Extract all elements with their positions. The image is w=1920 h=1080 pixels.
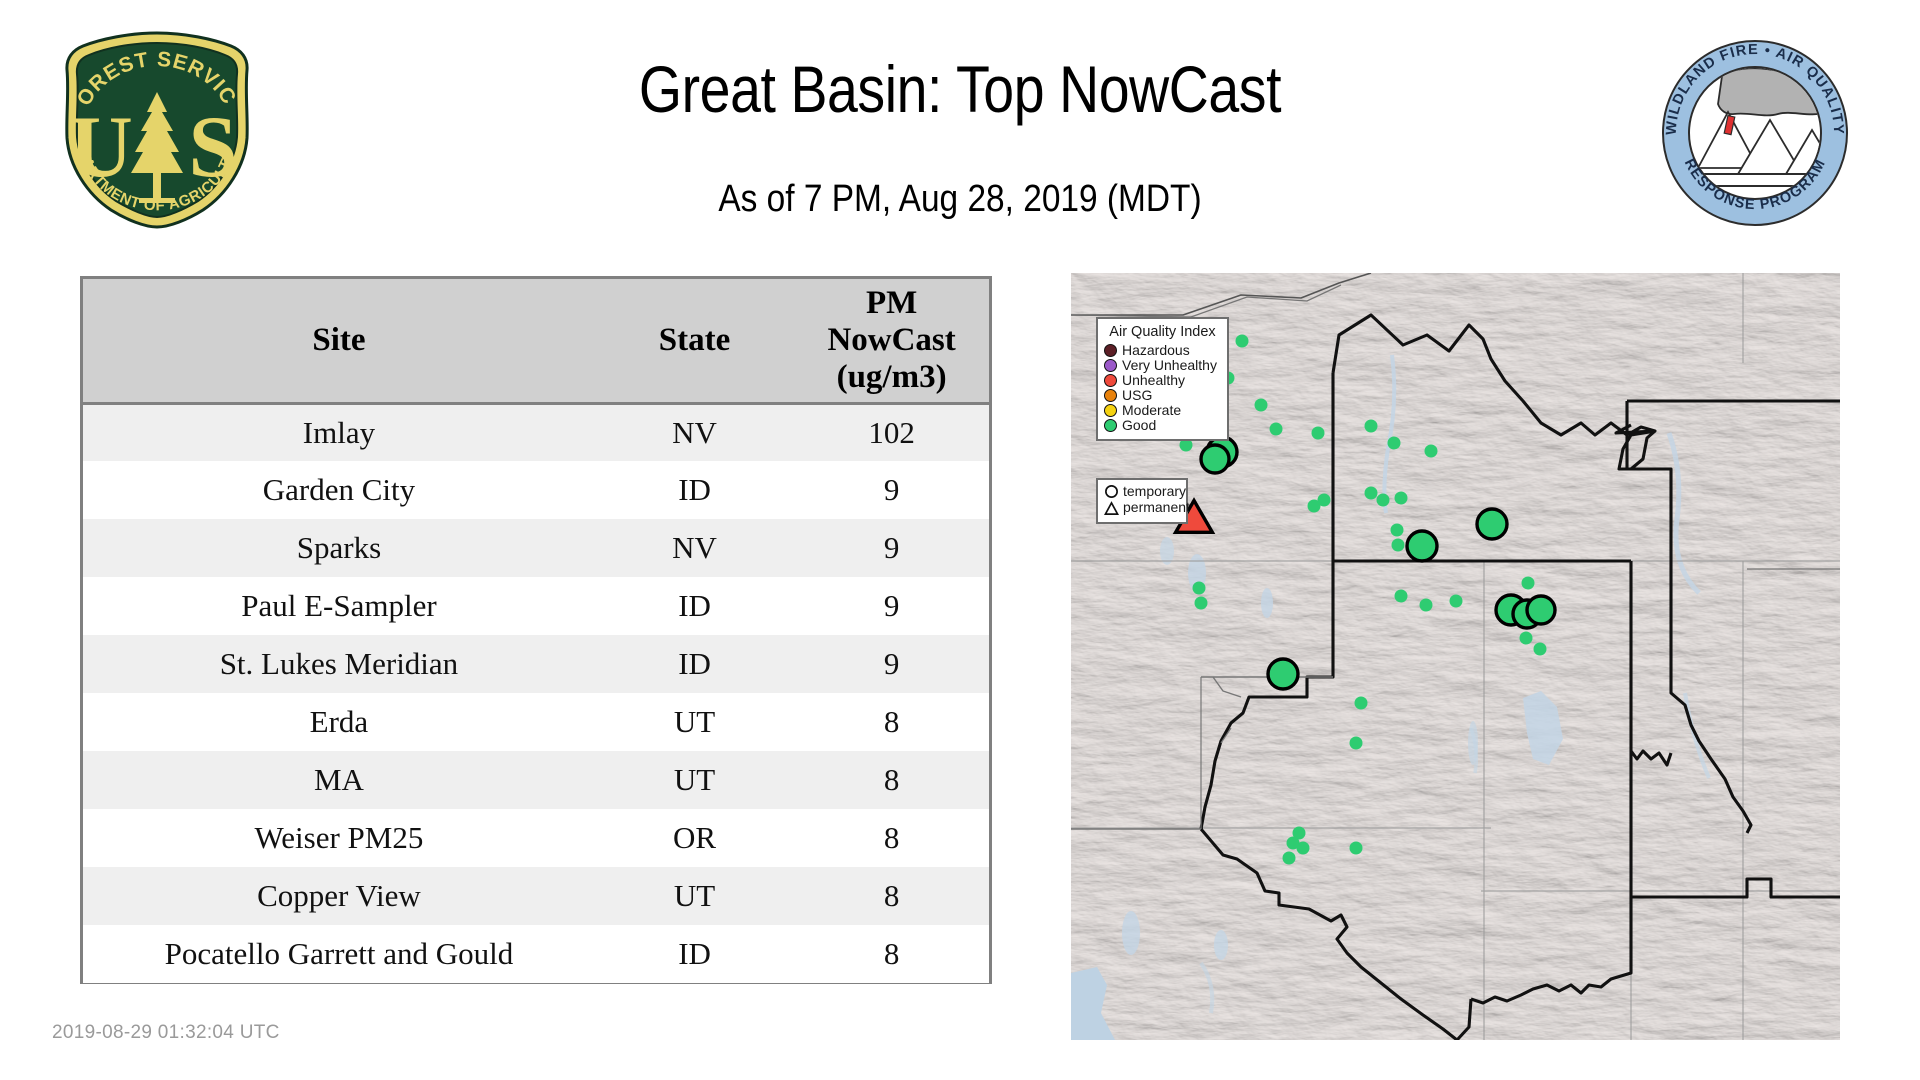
- legend-row-hazardous: Hazardous: [1104, 343, 1221, 358]
- table-row: St. Lukes MeridianID9: [83, 635, 989, 693]
- site-cell: Weiser PM25: [83, 809, 595, 867]
- pm-nowcast-cell: 8: [794, 809, 989, 867]
- state-cell: UT: [595, 751, 794, 809]
- legend-row-very-unhealthy: Very Unhealthy: [1104, 358, 1221, 373]
- legend-swatch-icon: [1104, 374, 1117, 387]
- table-row: ErdaUT8: [83, 693, 989, 751]
- small-site-marker: [1270, 423, 1283, 436]
- air-quality-index-legend: Air Quality Index HazardousVery Unhealth…: [1096, 317, 1229, 441]
- site-cell: Garden City: [83, 461, 595, 519]
- legend-swatch-icon: [1104, 404, 1117, 417]
- pm-nowcast-cell: 9: [794, 461, 989, 519]
- usda-forest-service-logo: FOREST SERVICE U S DEPARTMENT OF AGRICUL…: [55, 30, 260, 230]
- column-header-state: State: [595, 279, 794, 403]
- small-site-marker: [1425, 445, 1438, 458]
- table-row: Pocatello Garrett and GouldID8: [83, 925, 989, 983]
- small-site-marker: [1355, 697, 1368, 710]
- small-site-marker: [1420, 599, 1433, 612]
- page-subtitle: As of 7 PM, Aug 28, 2019 (MDT): [353, 178, 1567, 221]
- site-cell: MA: [83, 751, 595, 809]
- legend-label-temporary: temporary: [1123, 484, 1186, 499]
- pm-nowcast-cell: 8: [794, 693, 989, 751]
- state-cell: UT: [595, 693, 794, 751]
- small-site-marker: [1283, 852, 1296, 865]
- table-row: Copper ViewUT8: [83, 867, 989, 925]
- table-row: ImlayNV102: [83, 403, 989, 461]
- legend-label: Good: [1122, 418, 1156, 433]
- small-site-marker: [1236, 335, 1249, 348]
- small-site-marker: [1520, 632, 1533, 645]
- legend-row-unhealthy: Unhealthy: [1104, 373, 1221, 388]
- small-site-marker: [1193, 582, 1206, 595]
- small-site-marker: [1365, 487, 1378, 500]
- table-body: ImlayNV102Garden CityID9SparksNV9Paul E-…: [83, 403, 989, 983]
- generated-timestamp: 2019-08-29 01:32:04 UTC: [52, 1022, 280, 1044]
- legend-row-usg: USG: [1104, 388, 1221, 403]
- state-cell: ID: [595, 577, 794, 635]
- column-header-pm-line1: PM: [798, 285, 985, 322]
- permanent-triangle-icon: [1104, 501, 1119, 516]
- small-site-marker: [1450, 595, 1463, 608]
- table-row: Weiser PM25OR8: [83, 809, 989, 867]
- table-row: Paul E-SamplerID9: [83, 577, 989, 635]
- legend-label: USG: [1122, 388, 1152, 403]
- state-cell: ID: [595, 461, 794, 519]
- small-site-marker: [1350, 842, 1363, 855]
- pm-nowcast-cell: 9: [794, 635, 989, 693]
- legend-label-permanent: permanent: [1123, 500, 1190, 515]
- temporary-monitor-marker[interactable]: [1477, 509, 1507, 539]
- small-site-marker: [1308, 500, 1321, 513]
- small-site-marker: [1195, 597, 1208, 610]
- pm-nowcast-cell: 9: [794, 577, 989, 635]
- state-cell: NV: [595, 519, 794, 577]
- small-site-marker: [1365, 420, 1378, 433]
- legend-row-permanent: permanent: [1104, 500, 1181, 515]
- column-header-pm-line2: NowCast: [798, 322, 985, 359]
- legend-row-good: Good: [1104, 418, 1221, 433]
- column-header-site: Site: [83, 279, 595, 403]
- small-site-marker: [1395, 590, 1408, 603]
- site-cell: Erda: [83, 693, 595, 751]
- site-cell: Paul E-Sampler: [83, 577, 595, 635]
- pm-nowcast-cell: 8: [794, 925, 989, 983]
- state-cell: ID: [595, 925, 794, 983]
- small-site-marker: [1395, 492, 1408, 505]
- legend-label: Unhealthy: [1122, 373, 1185, 388]
- small-site-marker: [1388, 437, 1401, 450]
- forest-service-shield-icon: FOREST SERVICE U S DEPARTMENT OF AGRICUL…: [55, 30, 260, 230]
- temporary-monitor-marker[interactable]: [1268, 659, 1298, 689]
- legend-label: Moderate: [1122, 403, 1181, 418]
- small-site-marker: [1312, 427, 1325, 440]
- table-row: Garden CityID9: [83, 461, 989, 519]
- legend-row-temporary: temporary: [1104, 484, 1181, 499]
- pm-nowcast-cell: 8: [794, 751, 989, 809]
- small-site-marker: [1534, 643, 1547, 656]
- small-site-marker: [1391, 524, 1404, 537]
- state-cell: NV: [595, 403, 794, 461]
- air-quality-monitor-map[interactable]: Air Quality Index HazardousVery Unhealth…: [1071, 273, 1840, 1040]
- small-site-marker: [1255, 399, 1268, 412]
- legend-row-moderate: Moderate: [1104, 403, 1221, 418]
- small-site-marker: [1350, 737, 1363, 750]
- table-row: MAUT8: [83, 751, 989, 809]
- table-row: SparksNV9: [83, 519, 989, 577]
- state-cell: ID: [595, 635, 794, 693]
- column-header-pm-line3: (ug/m3): [798, 359, 985, 396]
- legend-swatch-icon: [1104, 344, 1117, 357]
- legend-title: Air Quality Index: [1104, 324, 1221, 340]
- small-site-marker: [1392, 539, 1405, 552]
- legend-swatch-icon: [1104, 419, 1117, 432]
- site-cell: Sparks: [83, 519, 595, 577]
- small-site-marker: [1522, 577, 1535, 590]
- wfaqrp-seal-icon: WILDLAND FIRE • AIR QUALITY RESPONSE PRO…: [1660, 38, 1850, 228]
- temporary-circle-icon: [1104, 484, 1119, 499]
- monitor-type-legend: temporary permanent: [1096, 478, 1188, 524]
- small-site-marker: [1297, 842, 1310, 855]
- site-cell: Copper View: [83, 867, 595, 925]
- state-cell: UT: [595, 867, 794, 925]
- legend-label: Very Unhealthy: [1122, 358, 1217, 373]
- legend-swatch-icon: [1104, 359, 1117, 372]
- state-cell: OR: [595, 809, 794, 867]
- temporary-monitor-marker[interactable]: [1407, 531, 1437, 561]
- site-cell: Pocatello Garrett and Gould: [83, 925, 595, 983]
- site-cell: St. Lukes Meridian: [83, 635, 595, 693]
- pm-nowcast-cell: 102: [794, 403, 989, 461]
- pm-nowcast-cell: 9: [794, 519, 989, 577]
- small-site-marker: [1377, 494, 1390, 507]
- column-header-pm-nowcast: PM NowCast (ug/m3): [794, 279, 989, 403]
- site-cell: Imlay: [83, 403, 595, 461]
- pm-nowcast-cell: 8: [794, 867, 989, 925]
- page-title: Great Basin: Top NowCast: [380, 55, 1539, 124]
- temporary-monitor-marker[interactable]: [1527, 596, 1555, 624]
- slide-root: FOREST SERVICE U S DEPARTMENT OF AGRICUL…: [0, 0, 1920, 1080]
- wildland-fire-air-quality-response-program-logo: WILDLAND FIRE • AIR QUALITY RESPONSE PRO…: [1660, 38, 1850, 228]
- table-header-row: Site State PM NowCast (ug/m3): [83, 279, 989, 403]
- legend-swatch-icon: [1104, 389, 1117, 402]
- top-nowcast-table: Site State PM NowCast (ug/m3) ImlayNV102…: [80, 276, 992, 984]
- legend-label: Hazardous: [1122, 343, 1190, 358]
- temporary-monitor-marker[interactable]: [1201, 445, 1229, 473]
